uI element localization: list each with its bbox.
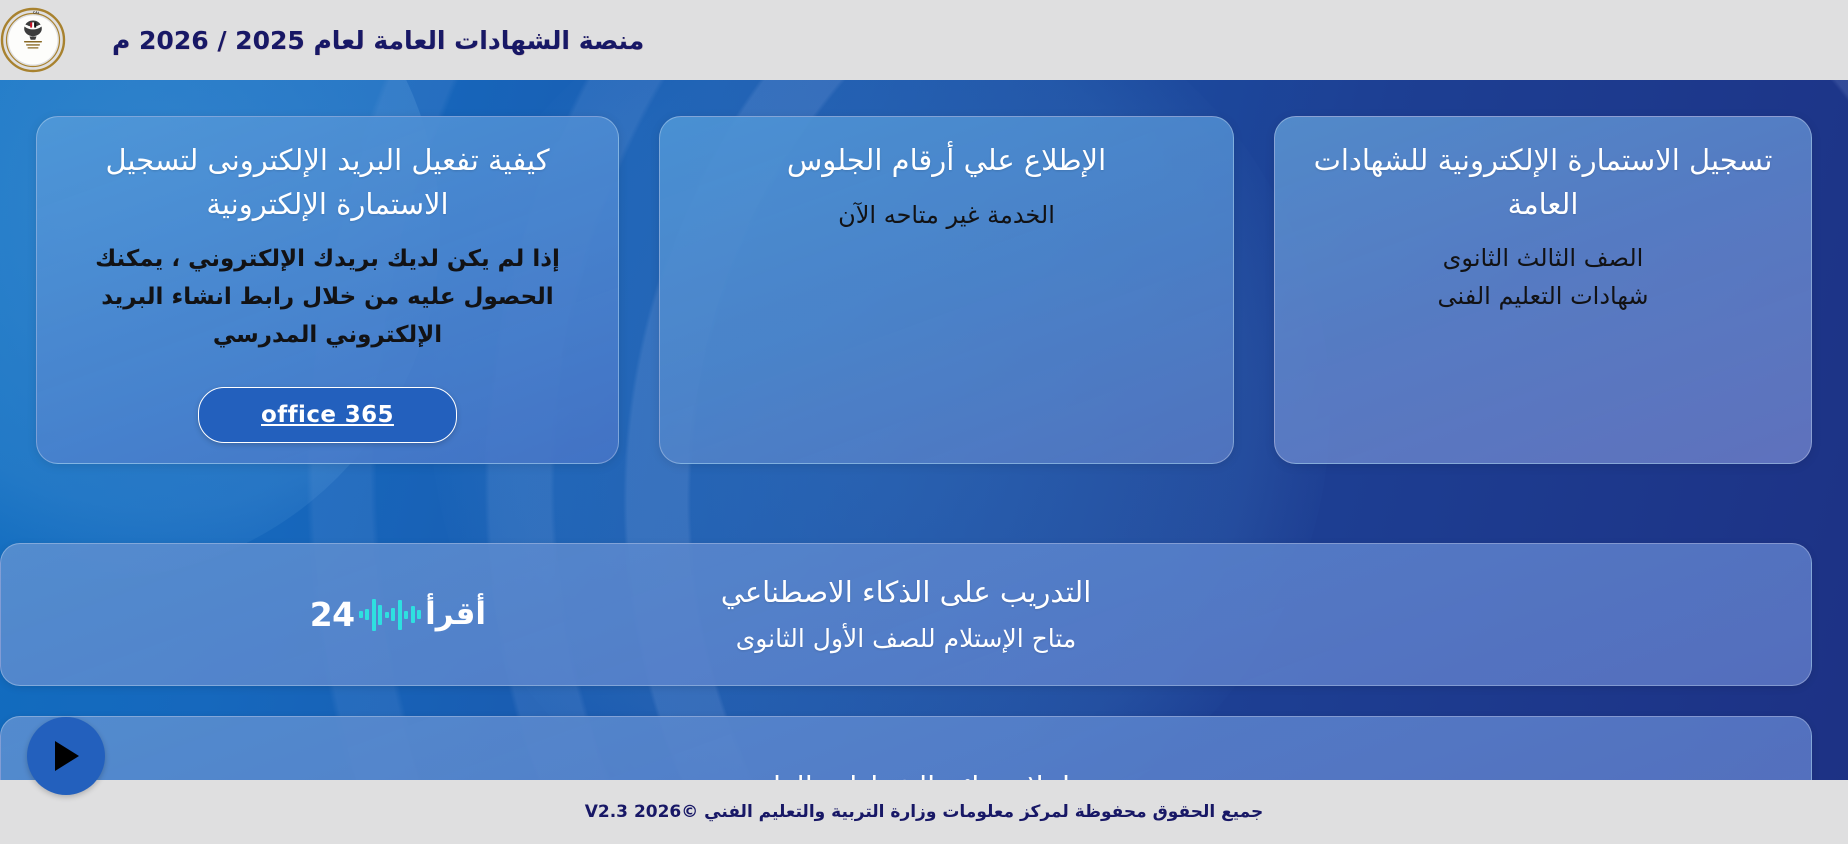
page-header: MINISTRY OF EDUCATION AND TECHNICAL منصة…: [0, 0, 1848, 80]
service-card-row: تسجيل الاستمارة الإلكترونية للشهادات الع…: [0, 98, 1848, 466]
card-registration-title: تسجيل الاستمارة الإلكترونية للشهادات الع…: [1301, 139, 1785, 226]
banner-ai-training-title: التدريب على الذكاء الاصطناعي: [721, 575, 1092, 610]
card-seat-numbers[interactable]: الإطلاع علي أرقام الجلوس الخدمة غير متاح…: [659, 116, 1234, 464]
iqraa24-word: أقرأ: [425, 599, 486, 630]
main-stage: تسجيل الاستمارة الإلكترونية للشهادات الع…: [0, 80, 1848, 844]
card-email-activation[interactable]: كيفية تفعيل البريد الإلكترونى لتسجيل الا…: [36, 116, 619, 464]
office-365-button[interactable]: office 365: [198, 387, 457, 443]
page-title: منصة الشهادات العامة لعام 2025 / 2026 م: [112, 26, 644, 55]
play-button[interactable]: [27, 717, 105, 795]
card-seat-numbers-status: الخدمة غير متاحه الآن: [686, 197, 1207, 235]
copyright-text: جميع الحقوق محفوظة لمركز معلومات وزارة ا…: [585, 802, 1264, 822]
banner-ai-training[interactable]: التدريب على الذكاء الاصطناعي متاح الإستل…: [0, 543, 1812, 686]
iqraa24-number: 24: [310, 598, 355, 631]
audio-waveform-icon: [359, 596, 422, 634]
card-registration-subtitle-1: الصف الثالث الثانوى: [1301, 240, 1785, 278]
page-footer: جميع الحقوق محفوظة لمركز معلومات وزارة ا…: [0, 780, 1848, 844]
card-email-activation-title: كيفية تفعيل البريد الإلكترونى لتسجيل الا…: [63, 139, 592, 226]
card-seat-numbers-title: الإطلاع علي أرقام الجلوس: [686, 139, 1207, 183]
card-email-activation-body: إذا لم يكن لديك بريدك الإلكتروني ، يمكنك…: [63, 240, 592, 355]
banner-ai-training-subtitle: متاح الإستلام للصف الأول الثانوى: [736, 624, 1077, 654]
card-registration[interactable]: تسجيل الاستمارة الإلكترونية للشهادات الع…: [1274, 116, 1812, 464]
egypt-ministry-of-education-seal-icon: MINISTRY OF EDUCATION AND TECHNICAL: [0, 7, 66, 73]
iqraa24-logo: أقرأ 24: [310, 592, 486, 638]
card-registration-subtitle-2: شهادات التعليم الفنى: [1301, 278, 1785, 316]
